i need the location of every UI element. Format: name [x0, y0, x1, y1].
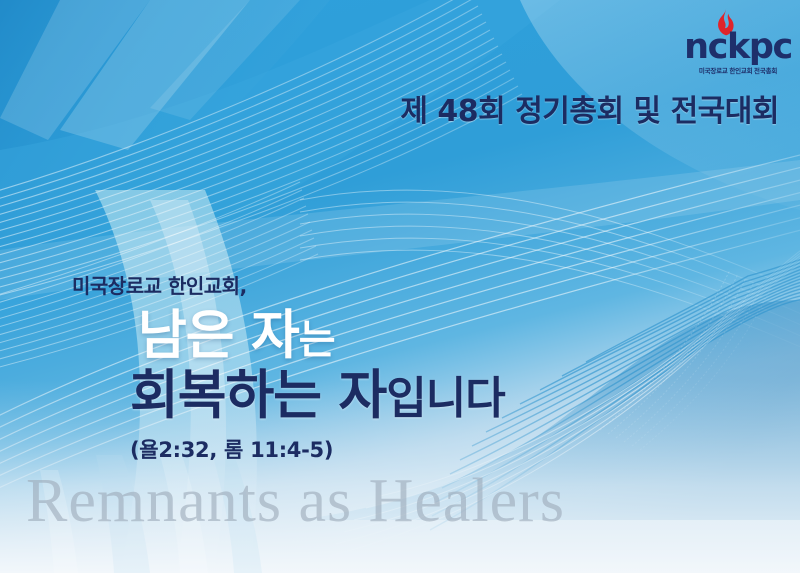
headline-line-1-lead: 남은 자 — [138, 305, 299, 366]
organization-eyebrow: 미국장로교 한인교회, — [72, 276, 772, 296]
event-title: 제 48회 정기총회 및 전국대회 — [0, 86, 779, 130]
logo-subtitle: 미국장로교 한인교회 전국총회 — [682, 65, 794, 75]
headline-line-1: 남은 자는 — [138, 309, 772, 362]
conference-banner: nckpc 미국장로교 한인교회 전국총회 제 48회 정기총회 및 전국대회 … — [0, 0, 800, 573]
nckpc-logo[interactable]: nckpc 미국장로교 한인교회 전국총회 — [682, 8, 794, 80]
headline-line-2: 회복하는 자입니다 — [130, 369, 772, 422]
main-copy-block: 미국장로교 한인교회, 남은 자는 회복하는 자입니다 (욜2:32, 롬 11… — [72, 276, 772, 464]
scripture-reference: (욜2:32, 롬 11:4-5) — [130, 434, 772, 464]
headline-line-1-tail: 는 — [299, 317, 335, 363]
headline-line-2-lead: 회복하는 자 — [130, 365, 386, 426]
logo-wordmark: nckpc — [682, 30, 794, 65]
headline-line-2-tail: 입니다 — [386, 373, 504, 424]
english-tagline: Remnants as Healers — [26, 466, 565, 537]
